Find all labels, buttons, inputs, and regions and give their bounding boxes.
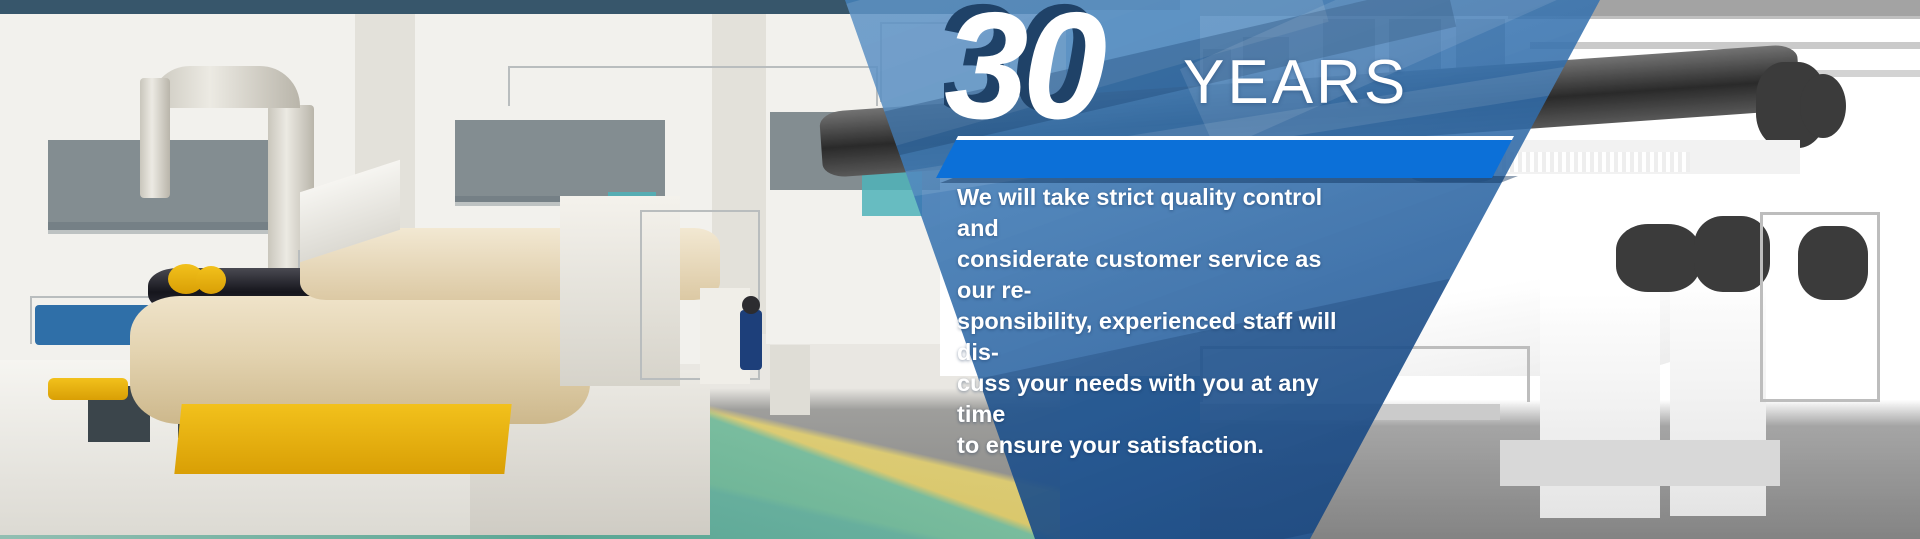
description-text: We will take strict quality control and …	[957, 182, 1357, 461]
svg-text:30: 30	[944, 0, 1107, 138]
anniversary-number-30: 30 30 30	[944, 0, 1184, 138]
description-line-2: considerate customer service as our re-	[957, 244, 1357, 306]
description-line-3: sponsibility, experienced staff will dis…	[957, 306, 1357, 368]
anniversary-unit-label: YEARS	[1183, 52, 1408, 114]
anniversary-banner: 30 30 30 YEARS We will take strict quali…	[0, 0, 1920, 539]
description-line-5: to ensure your satisfaction.	[957, 430, 1357, 461]
blue-accent-bar	[936, 136, 1514, 178]
description-line-4: cuss your needs with you at any time	[957, 368, 1357, 430]
description-line-1: We will take strict quality control and	[957, 182, 1357, 244]
